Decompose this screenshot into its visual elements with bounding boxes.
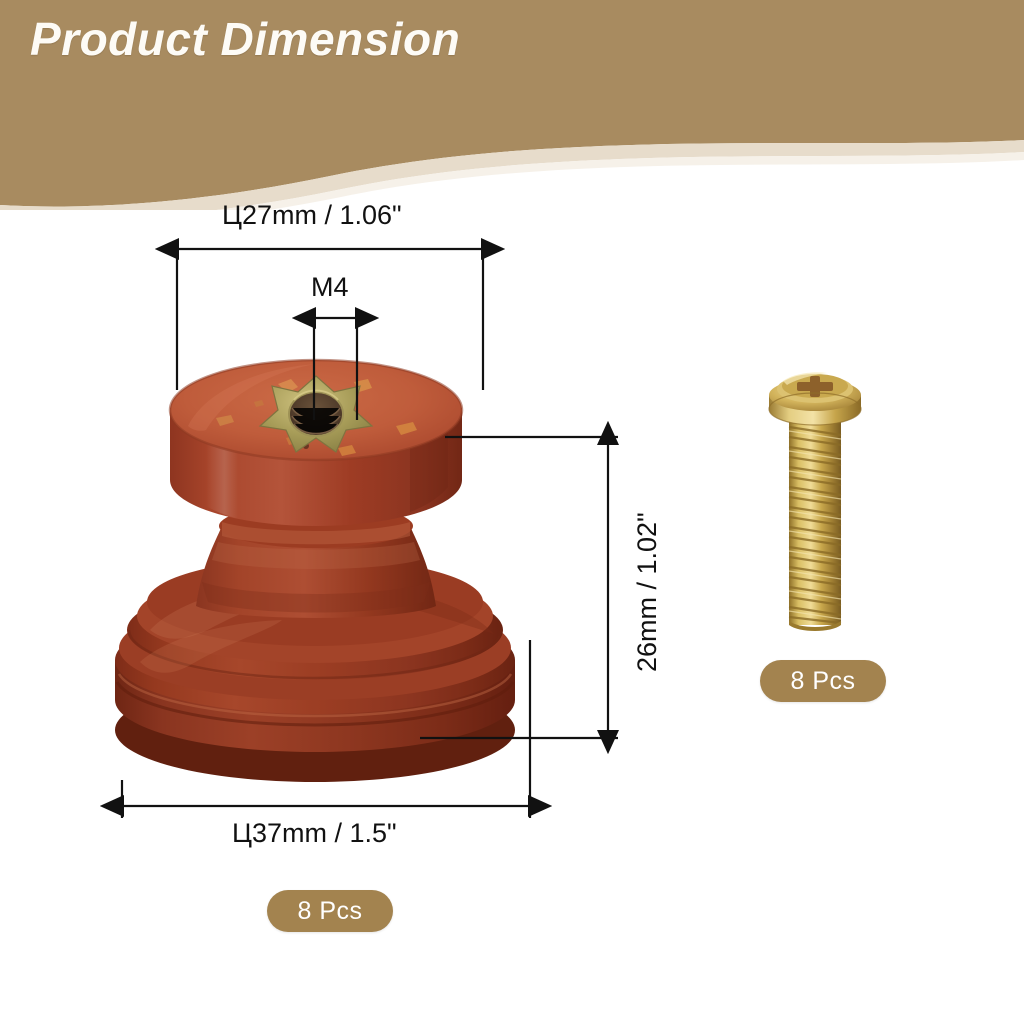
quantity-badge-screw-label: 8 Pcs (790, 667, 855, 696)
screw-head (769, 372, 861, 425)
product-dimension-infographic: Product Dimension (0, 0, 1024, 1024)
dimension-label-base-diameter: Ц37mm / 1.5" (232, 818, 397, 849)
page-title: Product Dimension (30, 12, 460, 66)
dimension-label-top-diameter: Ц27mm / 1.06" (222, 200, 402, 231)
dimension-label-thread: M4 (311, 272, 349, 303)
wooden-furniture-leg (110, 330, 580, 850)
dimension-label-height: 26mm / 1.02" (632, 512, 663, 672)
machine-screw (755, 365, 875, 645)
header-banner: Product Dimension (0, 0, 1024, 210)
quantity-badge-leg: 8 Pcs (267, 890, 393, 932)
quantity-badge-leg-label: 8 Pcs (297, 897, 362, 926)
quantity-badge-screw: 8 Pcs (760, 660, 886, 702)
